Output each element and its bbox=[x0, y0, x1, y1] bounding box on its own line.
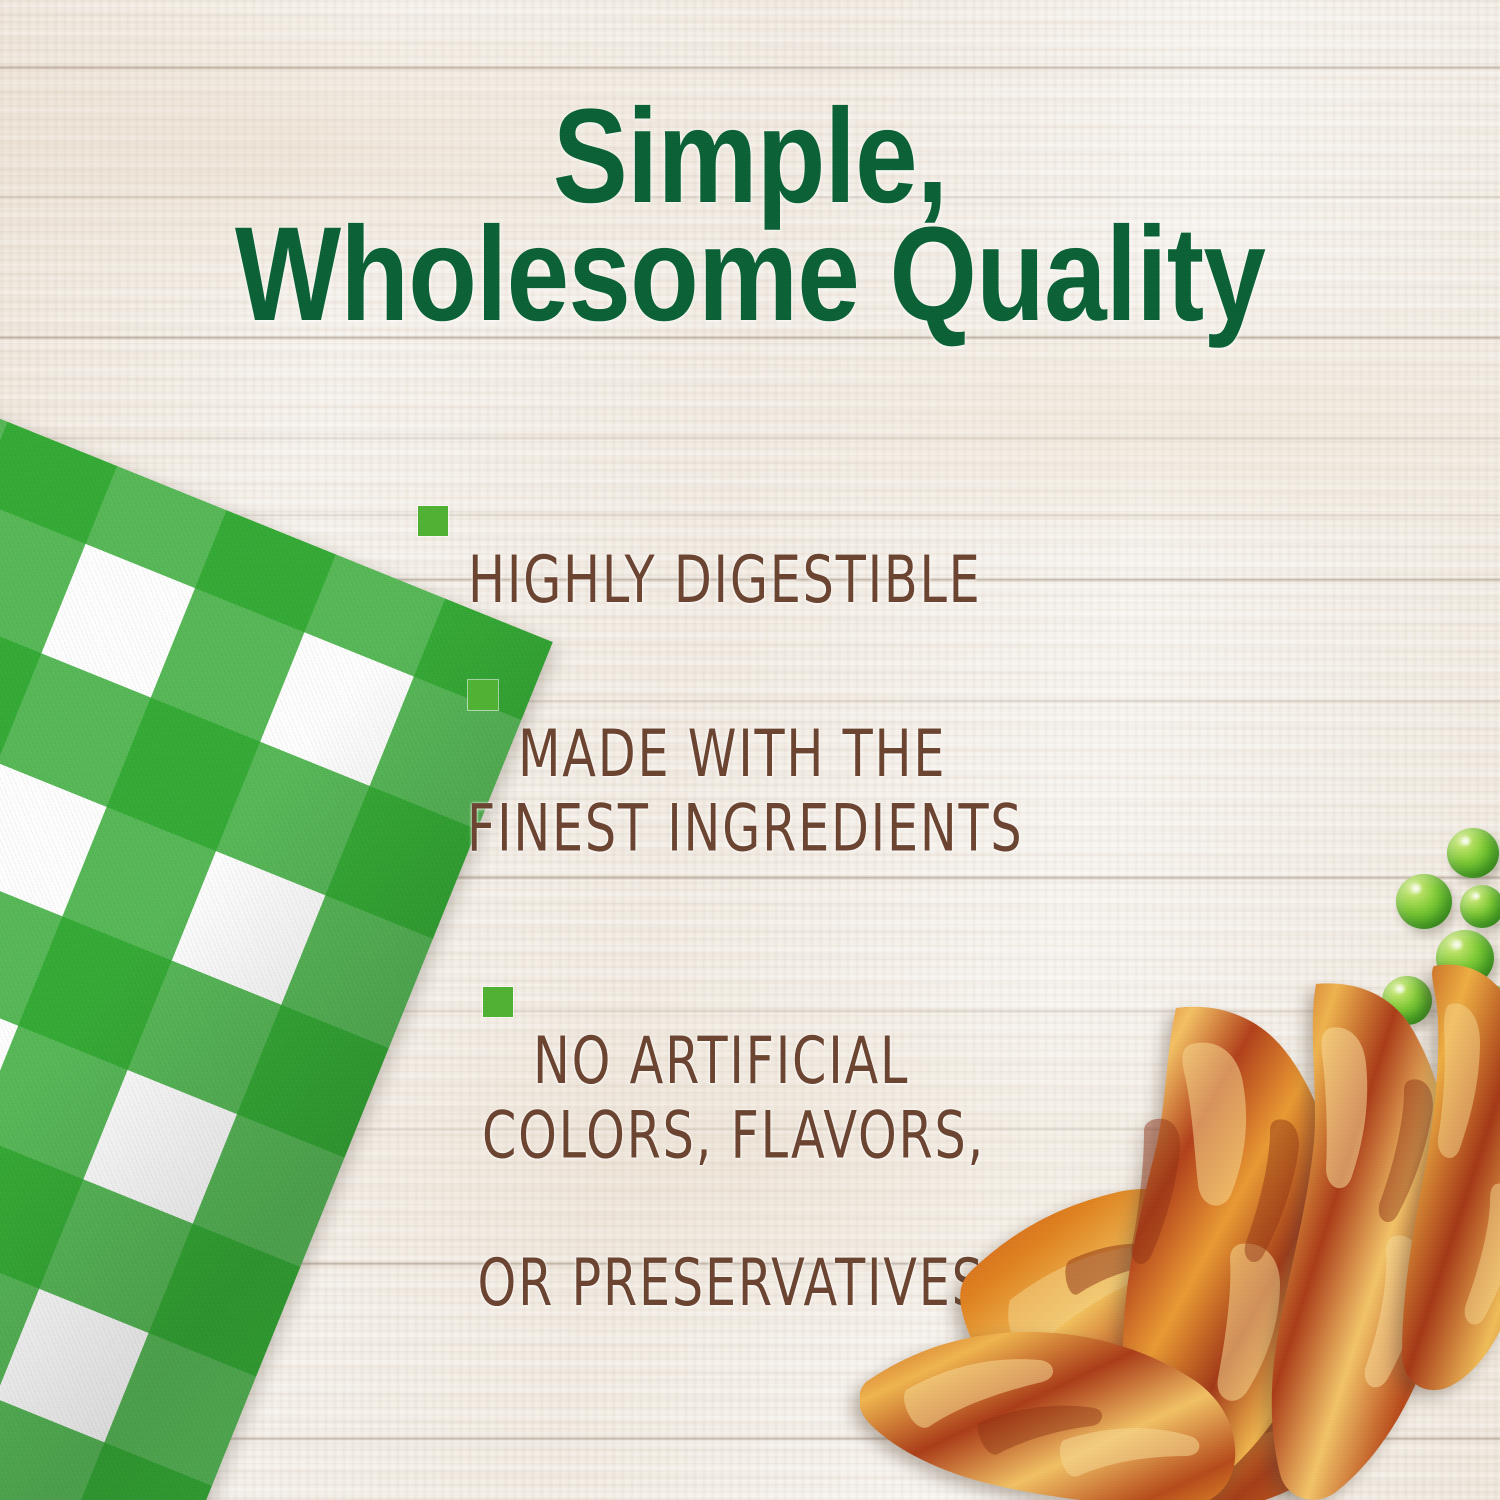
bullet-text: NO ARTIFICIAL COLORS, FLAVORS, OR PRESER… bbox=[533, 951, 1058, 1395]
bullet-text: MADE WITH THE FINEST INGREDIENTS bbox=[518, 644, 1057, 940]
bullet-line: OR PRESERVATIVES bbox=[478, 1247, 1059, 1321]
list-item: HIGHLY DIGESTIBLE bbox=[390, 470, 1130, 598]
plank-seam bbox=[0, 66, 1500, 70]
bullet-line: FINEST INGREDIENTS bbox=[467, 792, 1057, 866]
pea bbox=[1436, 930, 1494, 986]
bullet-line: MADE WITH THE bbox=[518, 717, 946, 792]
square-bullet-icon bbox=[418, 506, 448, 536]
pea bbox=[1382, 976, 1432, 1025]
bullet-line: HIGHLY DIGESTIBLE bbox=[468, 543, 982, 618]
square-bullet-icon bbox=[483, 987, 513, 1017]
square-bullet-icon bbox=[468, 680, 498, 710]
pea bbox=[1460, 885, 1500, 928]
plank-seam bbox=[0, 437, 1500, 440]
pea bbox=[1447, 828, 1499, 878]
list-item: NO ARTIFICIAL COLORS, FLAVORS, OR PRESER… bbox=[390, 951, 1130, 1334]
feature-bullet-list: HIGHLY DIGESTIBLE MADE WITH THE FINEST I… bbox=[390, 470, 1130, 1360]
page-title: Simple, Wholesome Quality bbox=[0, 95, 1500, 336]
bullet-line: NO ARTIFICIAL bbox=[533, 1024, 909, 1099]
list-item: MADE WITH THE FINEST INGREDIENTS bbox=[390, 644, 1130, 899]
bullet-text: HIGHLY DIGESTIBLE bbox=[468, 470, 1051, 618]
bullet-line: COLORS, FLAVORS, bbox=[482, 1099, 1058, 1173]
pea bbox=[1396, 874, 1452, 929]
product-banner: Simple, Wholesome Quality HIGHLY DIGESTI… bbox=[0, 0, 1500, 1500]
headline-line-2: Wholesome Quality bbox=[120, 213, 1380, 336]
